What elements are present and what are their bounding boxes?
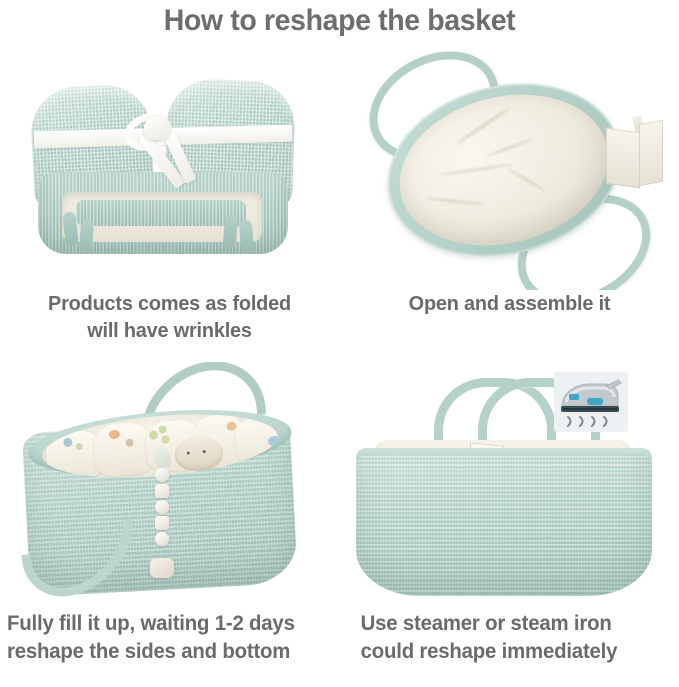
step-2-photo [340,42,679,290]
folded-strap [239,220,254,255]
step-3-caption-line-2: reshape the sides and bottom [7,638,334,666]
divider-panel-right [639,120,663,186]
charm-bead [155,500,169,514]
charm-bead [155,516,169,530]
filled-basket-illustration [6,366,336,610]
step-card-3: Fully fill it up, waiting 1-2 days resha… [0,362,339,666]
step-1-caption-line-2: will have wrinkles [5,317,334,344]
steps-grid: Products comes as folded will have wrink… [0,42,679,687]
empty-basket-illustration [346,366,678,610]
step-1-caption-line-1: Products comes as folded [5,290,334,317]
step-3-photo [0,362,339,610]
white-ribbon-knot [144,116,170,140]
step-4-caption-line-1: Use steamer or steam iron [361,610,674,638]
step-4-caption: Use steamer or steam iron could reshape … [345,610,674,666]
beaded-charm [154,462,170,578]
step-card-2: Open and assemble it [340,42,679,317]
step-card-4: Use steamer or steam iron could reshape … [340,362,679,666]
step-4-caption-line-2: could reshape immediately [361,638,674,666]
step-card-1: Products comes as folded will have wrink… [0,42,339,344]
step-4-photo [340,362,679,610]
step-2-caption-line-1: Open and assemble it [345,290,674,317]
step-1-photo [0,42,339,290]
folded-basket-illustration [28,80,298,260]
charm-clip [150,558,174,578]
steam-iron-icon [554,372,628,432]
baby-cloth [92,421,154,478]
divider-panel-left [606,128,640,189]
step-1-caption: Products comes as folded will have wrink… [5,290,334,344]
step-3-caption: Fully fill it up, waiting 1-2 days resha… [5,610,334,666]
folded-divider-panel [606,116,664,192]
folded-strap [79,220,94,255]
charm-bead [155,468,169,482]
open-basket-illustration [354,50,654,290]
charm-bead [155,532,169,546]
empty-basket-body [356,454,652,596]
step-3-caption-line-1: Fully fill it up, waiting 1-2 days [7,610,334,638]
page-title: How to reshape the basket [17,0,662,42]
step-2-caption: Open and assemble it [345,290,674,317]
charm-bead [155,484,169,498]
folded-inner-fold [76,200,246,226]
